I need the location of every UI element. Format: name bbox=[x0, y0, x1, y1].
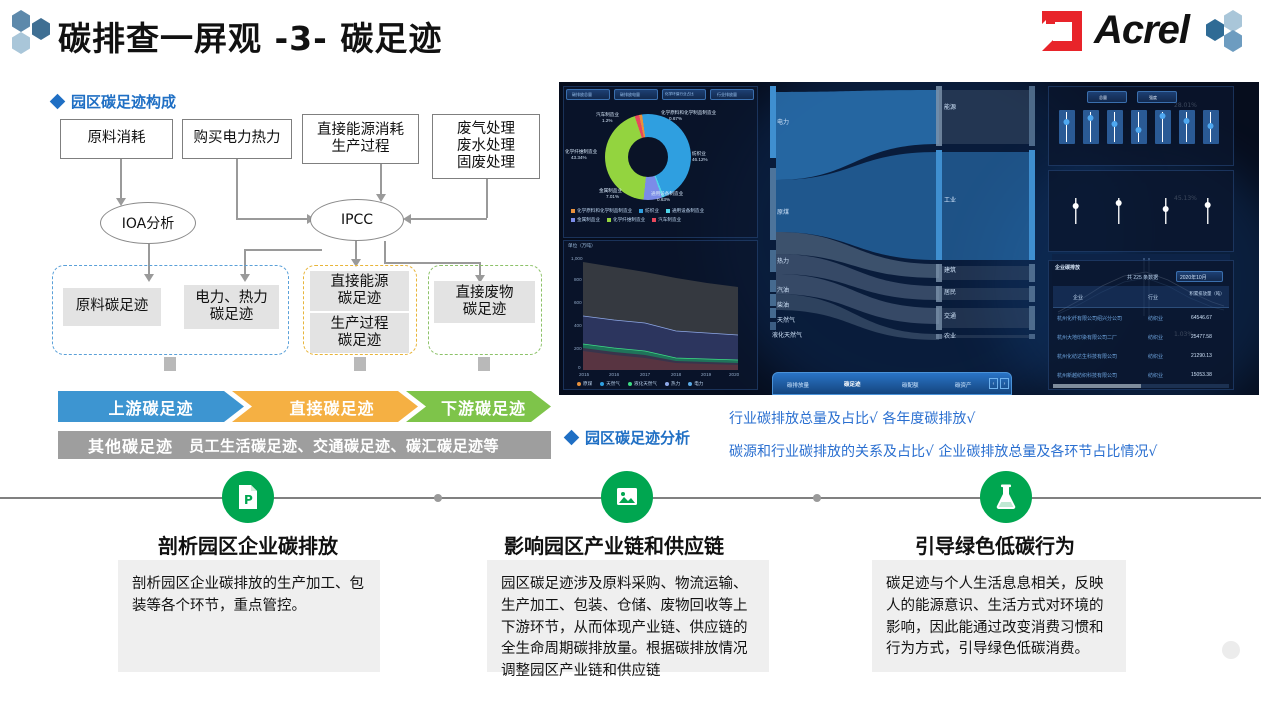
cell-company: 杭州大地印染有限公司二厂 bbox=[1057, 334, 1117, 341]
period-select-value: 2020年10月 bbox=[1180, 274, 1207, 281]
cell-value: 15053.38 bbox=[1191, 372, 1212, 378]
dashboard-tab-0-label: 碳排放总量 bbox=[572, 92, 592, 98]
area-chart-plot bbox=[583, 254, 738, 370]
bottom-tab-quota[interactable]: 碳配额 bbox=[902, 381, 919, 389]
donut-pct-general: 0.63% bbox=[657, 197, 670, 202]
y-tick: 200 bbox=[574, 346, 582, 351]
legend-item: 化学纤维制造业 bbox=[613, 217, 645, 223]
sankey-node-diesel: 柴油 bbox=[777, 300, 789, 309]
sankey-node-power: 电力 bbox=[777, 117, 789, 126]
sankey-node-natgas: 天然气 bbox=[777, 315, 795, 324]
analysis-line-2: 碳源和行业碳排放的关系及占比√ 企业碳排放总量及各环节占比情况√ bbox=[729, 440, 1157, 465]
legend-item: 汽车制造业 bbox=[658, 217, 681, 223]
legend-item: 液化天然气 bbox=[634, 381, 657, 387]
document-page-icon: P bbox=[222, 471, 274, 523]
composition-section-title: 园区碳足迹构成 bbox=[52, 91, 176, 112]
table-column-emission: 积累排放量（吨） bbox=[1189, 291, 1225, 297]
sankey-node-agriculture: 农业 bbox=[944, 331, 956, 340]
diamond-bullet-icon bbox=[564, 430, 580, 446]
cell-industry: 纺织业 bbox=[1148, 372, 1163, 379]
slider-bank-icon bbox=[1055, 108, 1227, 154]
legend-item: 金属制品业 bbox=[577, 217, 600, 223]
legend-item: 热力 bbox=[671, 381, 680, 387]
donut-pct-textile: 46.12% bbox=[692, 157, 708, 162]
page-title: 碳排查一屏观 -3- 碳足迹 bbox=[58, 12, 442, 60]
table-column-industry: 行业 bbox=[1148, 294, 1158, 301]
card-title-3: 引导绿色低碳行为 bbox=[880, 530, 1110, 559]
slider-bank-2-icon bbox=[1055, 194, 1227, 234]
cell-value: 64546.67 bbox=[1191, 315, 1212, 321]
chevron-label: 直接碳足迹 bbox=[289, 395, 374, 419]
area-chart-unit: 单位（万吨） bbox=[568, 243, 596, 249]
connector-line bbox=[384, 241, 386, 263]
card-body-1: 剖析园区企业碳排放的生产加工、包装等各个环节，重点管控。 bbox=[118, 560, 380, 672]
analysis-line-1: 行业碳排放总量及占比√ 各年度碳排放√ bbox=[729, 407, 975, 432]
chevron-downstream: 下游碳足迹 bbox=[406, 391, 551, 422]
brand-lockup: Acrel bbox=[1040, 8, 1249, 53]
diamond-bullet-icon bbox=[50, 94, 66, 110]
cell-value: 21290.13 bbox=[1191, 353, 1212, 359]
x-tick: 2019 bbox=[701, 372, 711, 377]
cell-company: 杭州新越纺织科技有限公司 bbox=[1057, 372, 1117, 379]
connector-stub bbox=[354, 357, 366, 371]
y-tick: 1,000 bbox=[571, 256, 583, 261]
dashboard-tab-2-label: 化学环保行业占比 bbox=[665, 92, 694, 97]
chevron-direct: 直接碳足迹 bbox=[232, 391, 418, 422]
other-bar-title: 其他碳足迹 bbox=[88, 433, 173, 457]
table-scrollbar-thumb[interactable] bbox=[1053, 384, 1141, 388]
legend-item: 原煤 bbox=[583, 381, 592, 387]
y-tick: 600 bbox=[574, 300, 582, 305]
acrel-square-logo-icon bbox=[1040, 9, 1084, 53]
dashboard-tab-1-label: 碳排放电量 bbox=[620, 92, 640, 98]
sankey-node-coal: 原煤 bbox=[777, 207, 789, 216]
source-box-purchased-power: 购买电力热力 bbox=[182, 119, 292, 159]
carbon-footprint-dashboard-screenshot: 碳排放总量 碳排放电量 化学环保行业占比 行业排放量 汽车制造业 1.2% 化学… bbox=[559, 82, 1259, 395]
sankey-node-industry: 工业 bbox=[944, 195, 956, 204]
timeline-dot bbox=[434, 494, 442, 502]
method-ellipse-ioa: IOA分析 bbox=[100, 202, 196, 244]
output-box-power-heat-footprint: 电力、热力 碳足迹 bbox=[184, 285, 279, 329]
donut-pct-metal: 7.01% bbox=[606, 194, 619, 199]
card-body-2: 园区碳足迹涉及原料采购、物流运输、生产加工、包装、仓储、废物回收等上下游环节，从… bbox=[487, 560, 769, 672]
timeline-dot bbox=[813, 494, 821, 502]
output-box-production-footprint: 生产过程 碳足迹 bbox=[310, 313, 409, 353]
donut-pct-fiber: 43.34% bbox=[571, 155, 587, 160]
sankey-node-lng: 液化天然气 bbox=[772, 330, 802, 339]
table-title: 企业碳排放 bbox=[1055, 264, 1080, 271]
x-tick: 2017 bbox=[640, 372, 650, 377]
image-photo-icon bbox=[601, 471, 653, 523]
connector-line bbox=[236, 218, 310, 220]
cell-company: 杭州化纺达生科技有限公司 bbox=[1057, 353, 1117, 360]
sankey-node-heat: 热力 bbox=[777, 256, 789, 265]
cell-value: 25477.58 bbox=[1191, 334, 1212, 340]
analysis-section-title: 园区碳足迹分析 bbox=[566, 427, 690, 448]
bottom-tab-emission[interactable]: 碳排放量 bbox=[787, 381, 809, 389]
section-label: 园区碳足迹分析 bbox=[585, 427, 690, 448]
table-meta: 共 225 条数据 bbox=[1127, 274, 1158, 281]
donut-legend: 化学原料和化学制品制造业 纺织业 通用设备制造业 金属制品业 化学纤维制造业 汽… bbox=[571, 208, 704, 223]
y-tick: 800 bbox=[574, 277, 582, 282]
chevron-left-icon[interactable]: ‹ bbox=[989, 378, 998, 389]
other-bar-detail: 员工生活碳足迹、交通碳足迹、碳汇碳足迹等 bbox=[189, 435, 499, 456]
y-tick: 0 bbox=[578, 365, 581, 370]
connector-line bbox=[384, 262, 480, 264]
chevron-label: 上游碳足迹 bbox=[108, 395, 193, 419]
chevron-label: 下游碳足迹 bbox=[441, 395, 526, 419]
legend-item: 通用设备制造业 bbox=[672, 208, 704, 214]
table-column-company: 企业 bbox=[1073, 294, 1083, 301]
decorative-dot bbox=[1222, 641, 1240, 659]
legend-item: 电力 bbox=[694, 381, 703, 387]
hexagon-cluster-icon bbox=[8, 8, 54, 56]
connector-line bbox=[120, 159, 122, 203]
chevron-upstream: 上游碳足迹 bbox=[58, 391, 244, 422]
x-tick: 2016 bbox=[609, 372, 619, 377]
connector-stub bbox=[164, 357, 176, 371]
sankey-node-energy: 能源 bbox=[944, 102, 956, 111]
chevron-right-icon[interactable]: › bbox=[1000, 378, 1009, 389]
sankey-diagram bbox=[764, 82, 1039, 382]
output-box-direct-waste-footprint: 直接废物 碳足迹 bbox=[434, 281, 535, 323]
sankey-node-building: 建筑 bbox=[944, 265, 956, 274]
output-box-direct-energy-footprint: 直接能源 碳足迹 bbox=[310, 271, 409, 311]
method-ellipse-ipcc: IPCC bbox=[310, 199, 404, 241]
donut-pct-auto: 1.2% bbox=[602, 118, 612, 123]
area-chart-legend: 原煤 天然气 液化天然气 热力 电力 bbox=[577, 381, 703, 387]
total-button-label: 总量 bbox=[1099, 95, 1107, 101]
card-title-2: 影响园区产业链和供应链 bbox=[454, 530, 774, 559]
sankey-node-gasoline: 汽油 bbox=[777, 285, 789, 294]
table-scrollbar-track[interactable] bbox=[1053, 384, 1229, 388]
cell-industry: 纺织业 bbox=[1148, 353, 1163, 360]
connector-line bbox=[380, 164, 382, 198]
connector-stub bbox=[478, 357, 490, 371]
bottom-tab-asset[interactable]: 碳资产 bbox=[955, 381, 972, 389]
card-title-1: 剖析园区企业碳排放 bbox=[108, 530, 388, 559]
legend-item: 纺织业 bbox=[645, 208, 659, 214]
legend-item: 化学原料和化学制品制造业 bbox=[577, 208, 632, 214]
y-tick: 400 bbox=[574, 323, 582, 328]
output-box-raw-footprint: 原料碳足迹 bbox=[63, 288, 161, 326]
svg-text:P: P bbox=[244, 493, 253, 507]
source-box-direct-energy: 直接能源消耗 生产过程 bbox=[302, 114, 419, 164]
card-body-3: 碳足迹与个人生活息息相关，反映人的能源意识、生活方式对环境的影响，因此能通过改变… bbox=[872, 560, 1126, 672]
source-box-raw-material: 原料消耗 bbox=[60, 119, 173, 159]
cell-company: 杭州化纤有限公司绍兴分公司 bbox=[1057, 315, 1122, 322]
x-tick: 2018 bbox=[671, 372, 681, 377]
source-box-waste-treatment: 废气处理 废水处理 固废处理 bbox=[432, 114, 540, 179]
total-button[interactable] bbox=[1087, 91, 1127, 103]
header: 碳排查一屏观 -3- 碳足迹 Acrel bbox=[0, 0, 1261, 64]
cell-industry: 纺织业 bbox=[1148, 334, 1163, 341]
connector-line bbox=[244, 249, 322, 251]
section-label: 园区碳足迹构成 bbox=[71, 91, 176, 112]
legend-item: 天然气 bbox=[606, 381, 620, 387]
sankey-node-resident: 居民 bbox=[944, 287, 956, 296]
x-tick: 2015 bbox=[579, 372, 589, 377]
dashboard-tab-3-label: 行业排放量 bbox=[717, 92, 737, 98]
sankey-node-transport: 交通 bbox=[944, 311, 956, 320]
hexagon-cluster-icon bbox=[1203, 9, 1249, 53]
connector-line bbox=[410, 218, 487, 220]
donut-pct-chem: 0.67% bbox=[669, 116, 682, 121]
connector-line bbox=[486, 179, 488, 218]
flask-beaker-icon bbox=[980, 471, 1032, 523]
brand-name: Acrel bbox=[1094, 8, 1189, 53]
slide-root: 碳排查一屏观 -3- 碳足迹 Acrel 园区碳足迹构成 原料消耗 购买电力热力… bbox=[0, 0, 1261, 708]
arrow-icon bbox=[403, 214, 411, 224]
intensity-button[interactable] bbox=[1137, 91, 1177, 103]
intensity-button-label: 强度 bbox=[1149, 95, 1157, 101]
bottom-tab-footprint[interactable]: 碳足迹 bbox=[844, 380, 861, 388]
cell-industry: 纺织业 bbox=[1148, 315, 1163, 322]
connector-line bbox=[236, 159, 238, 219]
other-footprint-bar: 其他碳足迹 员工生活碳足迹、交通碳足迹、碳汇碳足迹等 bbox=[58, 431, 551, 459]
x-tick: 2020 bbox=[729, 372, 739, 377]
